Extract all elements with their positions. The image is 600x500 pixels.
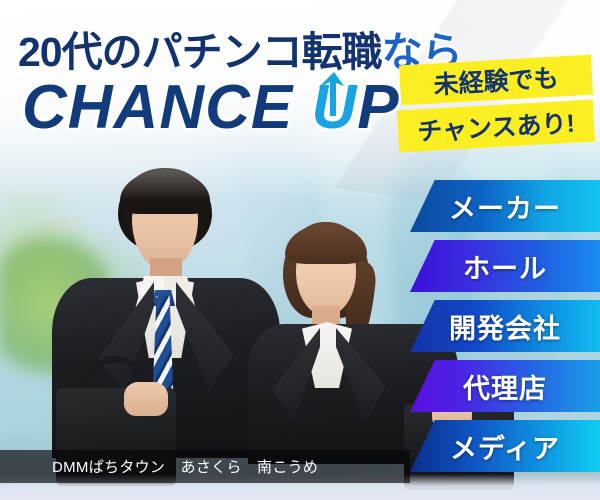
headline-primary-main: 20代のパチンコ転職 <box>18 29 382 75</box>
logo-chance-up: CHANCE UP <box>22 72 400 143</box>
badge-no-experience-label: 未経験でも <box>433 59 560 102</box>
logo-letter-u: U <box>311 72 357 143</box>
headline-primary: 20代のパチンコ転職なら <box>18 18 462 78</box>
category-button-media-label: メディア <box>450 427 560 466</box>
man-hand <box>124 382 168 416</box>
logo-word-chance: CHANCE <box>22 73 311 142</box>
banner-ad[interactable]: 20代のパチンコ転職なら CHANCE UP 未経験でも チャンスあり! メーカ… <box>0 0 600 500</box>
category-button-hall-label: ホール <box>463 247 547 286</box>
category-button-media[interactable]: メディア <box>410 420 600 472</box>
category-button-maker[interactable]: メーカー <box>410 180 600 232</box>
category-button-hall[interactable]: ホール <box>410 240 600 292</box>
category-button-agency[interactable]: 代理店 <box>410 360 600 412</box>
category-button-development-company[interactable]: 開発会社 <box>410 300 600 352</box>
badge-chance-available-label: チャンスあり! <box>416 104 575 149</box>
logo-letter-p: P <box>357 73 399 142</box>
credit-text: DMMぱちタウン あさくら 南こうめ <box>52 456 318 477</box>
category-button-agency-label: 代理店 <box>463 367 547 406</box>
category-button-development-company-label: 開発会社 <box>449 307 561 346</box>
credit-bar: DMMぱちタウン あさくら 南こうめ <box>0 450 410 483</box>
category-button-maker-label: メーカー <box>449 187 561 226</box>
